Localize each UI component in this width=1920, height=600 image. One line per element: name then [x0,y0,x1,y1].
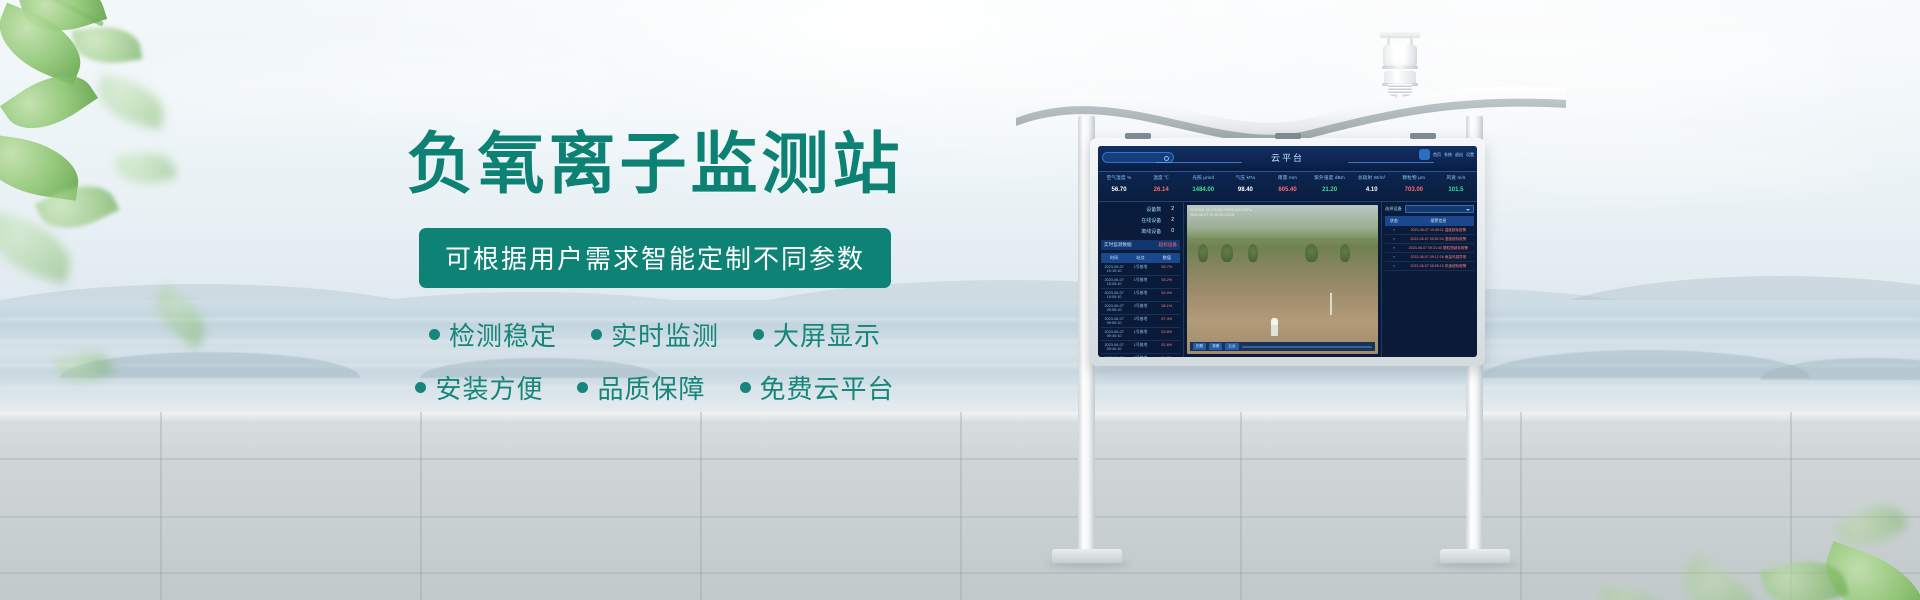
feature-item: 检测稳定 [429,316,557,353]
table-cell: 56.7% [1154,263,1180,275]
metric-label: 颗粒物 μm [1393,175,1435,181]
bullet-dot-icon [429,329,440,340]
section-header: 实时监测数据 超标设备 [1101,240,1180,250]
left-panel: 设备数2在线设备2离线设备0 实时监测数据 超标设备 时间站点数值 2023-0… [1098,202,1184,357]
monitoring-station-kiosk: 云平台 首页 系统 退出 设置 空气湿度 %56.70温度 ℃26.14光照 μ… [1010,20,1610,600]
table-cell: 2023-06-07 09:45:10 [1101,328,1127,340]
device-stats: 设备数2在线设备2离线设备0 [1101,206,1180,235]
metric-value: 1484.00 [1182,187,1224,193]
table-cell: 2023-06-07 09:50:10 [1101,315,1127,327]
header-badge[interactable]: 退出 [1455,152,1463,158]
metric-value: 26.14 [1140,187,1182,193]
table-col-header: 站点 [1127,253,1153,263]
metric-value: 703.00 [1393,187,1435,193]
header-badge[interactable]: 首页 [1433,152,1441,158]
table-cell: 2023-06-07 10:00:10 [1101,289,1127,301]
status-badge: 超标设备 [1159,242,1177,248]
sensor-pole [1330,293,1332,315]
realtime-table: 时间站点数值 2023-06-07 10:10:101号基地56.7%2023-… [1101,253,1180,357]
stat-line: 离线设备0 [1101,228,1180,235]
feature-label: 安装方便 [435,369,543,406]
metric-label: 雨量 mm [1266,175,1308,181]
table-cell: 1号基地 [1127,328,1153,340]
table-cell: 53.8% [1154,328,1180,340]
banner-copy: 负氧离子监测站 可根据用户需求智能定制不同参数 检测稳定 实时监测 大屏显示 [390,130,920,422]
feature-row: 检测稳定 实时监测 大屏显示 [390,316,920,353]
device-select[interactable] [1405,205,1474,213]
table-cell: 2023-06-07 09:35:10 [1101,354,1127,357]
metric-cell: 气压 kPa98.40 [1224,172,1266,201]
table-cell: 2号基地 [1127,354,1153,357]
metric-strip: 空气湿度 %56.70温度 ℃26.14光照 μmol1484.00气压 kPa… [1098,172,1477,202]
subtitle-pill: 可根据用户需求智能定制不同参数 [419,228,891,288]
table-row[interactable]: 2023-06-07 10:05:101号基地55.2% [1101,276,1180,289]
bullet-dot-icon [415,382,426,393]
video-controls[interactable]: 拍照 录像 云台 [1190,342,1375,351]
feature-list: 检测稳定 实时监测 大屏显示 安装方便 品质保障 [390,316,920,406]
mount-bracket [1125,133,1151,139]
table-cell: 1号基地 [1127,289,1153,301]
table-cell: 58.1% [1154,302,1180,314]
metric-label: 温度 ℃ [1140,175,1182,181]
post-base-left [1052,549,1122,563]
table-cell: 1号基地 [1127,276,1153,288]
cloud-band [120,60,640,120]
alarm-message: 2023-06-07 09:52:04 湿度超标报警 [1403,235,1474,243]
alarm-message: 2023-06-07 09:31:40 颗粒物超标报警 [1403,244,1474,252]
metric-cell: 雨量 mm605.40 [1266,172,1308,201]
stat-line: 在线设备2 [1101,217,1180,224]
bullet-dot-icon [577,382,588,393]
stat-line: 设备数2 [1101,206,1180,213]
feature-item: 免费云平台 [740,369,895,406]
video-panel: JZYK001 25.2℃/56.7%RH/1013.2hPa 2023-06-… [1184,202,1381,357]
mount-bracket [1275,133,1301,139]
table-cell: 52.6% [1154,341,1180,353]
metric-cell: 总辐射 W/m²4.10 [1351,172,1393,201]
metric-label: 紫外强度 dBm [1309,175,1351,181]
table-row[interactable]: 2023-06-07 09:40:101号基地52.6% [1101,341,1180,354]
metric-cell: 紫外强度 dBm21.20 [1309,172,1351,201]
person-figure [1271,318,1278,336]
table-row[interactable]: 2023-06-07 09:45:101号基地53.8% [1101,328,1180,341]
dashboard-screen: 云平台 首页 系统 退出 设置 空气湿度 %56.70温度 ℃26.14光照 μ… [1098,146,1477,357]
metric-label: 光照 μmol [1182,175,1224,181]
alarm-row[interactable]: ●2023-06-07 09:52:04 湿度超标报警 [1385,235,1474,244]
table-body: 2023-06-07 10:10:101号基地56.7%2023-06-07 1… [1101,263,1180,357]
metric-label: 总辐射 W/m² [1351,175,1393,181]
alarm-message: 2023-06-07 09:12:26 雨量传感异常 [1403,253,1474,261]
table-cell: 2023-06-07 10:05:10 [1101,276,1127,288]
feature-item: 大屏显示 [753,316,881,353]
table-cell: 2023-06-07 10:10:10 [1101,263,1127,275]
metric-cell: 温度 ℃26.14 [1140,172,1182,201]
table-cell: 59.3% [1154,354,1180,357]
metric-value: 605.40 [1266,187,1308,193]
table-header: 时间站点数值 [1101,253,1180,263]
header-badge[interactable]: 设置 [1466,152,1474,158]
table-col-header: 时间 [1101,253,1127,263]
feature-item: 品质保障 [577,369,705,406]
metric-value: 98.40 [1224,187,1266,193]
video-progress-bar[interactable] [1242,346,1372,348]
header-deco-line [1348,162,1434,163]
table-row[interactable]: 2023-06-07 09:55:102号基地58.1% [1101,302,1180,315]
table-col-header: 数值 [1154,253,1180,263]
feature-label: 大屏显示 [773,316,881,353]
user-menu[interactable]: 首页 系统 退出 设置 [1419,149,1474,160]
right-panel: 选择设备 状态 报警信息 ●2023-06-07 10:08:11 温度超标报警… [1381,202,1477,357]
osd-line: 2023-06-07 10:10:10 CH-01 [1190,213,1252,218]
feature-label: 实时监测 [611,316,719,353]
bullet-dot-icon [753,329,764,340]
metric-cell: 风速 m/s101.5 [1435,172,1477,201]
table-cell: 2023-06-07 09:55:10 [1101,302,1127,314]
alarm-row[interactable]: ●2023-06-07 09:31:40 颗粒物超标报警 [1385,244,1474,253]
alarm-table-header: 状态 报警信息 [1385,216,1474,226]
table-row[interactable]: 2023-06-07 10:00:101号基地54.9% [1101,289,1180,302]
alarm-status-dot: ● [1385,226,1403,234]
table-cell: 57.4% [1154,315,1180,327]
display-bezel: 云平台 首页 系统 退出 设置 空气湿度 %56.70温度 ℃26.14光照 μ… [1090,138,1485,366]
alarm-status-dot: ● [1385,244,1403,252]
metric-value: 4.10 [1351,187,1393,193]
table-cell: 2023-06-07 09:40:10 [1101,341,1127,353]
alarm-row[interactable]: ●2023-06-07 08:55:19 风速超标报警 [1385,262,1474,271]
video-button[interactable]: 拍照 [1193,343,1206,350]
device-filter[interactable]: 选择设备 [1385,205,1474,213]
table-cell: 1号基地 [1127,263,1153,275]
feature-row: 安装方便 品质保障 免费云平台 [390,369,920,406]
table-cell: 54.9% [1154,289,1180,301]
feature-label: 免费云平台 [760,369,895,406]
table-cell: 2号基地 [1127,302,1153,314]
metric-label: 空气湿度 % [1098,175,1140,181]
video-osd: JZYK001 25.2℃/56.7%RH/1013.2hPa 2023-06-… [1190,208,1252,219]
alarm-status-dot: ● [1385,235,1403,243]
feature-item: 安装方便 [415,369,543,406]
alarm-row[interactable]: ●2023-06-07 09:12:26 雨量传感异常 [1385,253,1474,262]
post-base-right [1440,549,1510,563]
metric-label: 风速 m/s [1435,175,1477,181]
dashboard-body: 设备数2在线设备2离线设备0 实时监测数据 超标设备 时间站点数值 2023-0… [1098,202,1477,357]
feature-label: 品质保障 [597,369,705,406]
avatar [1419,149,1430,160]
header-badge[interactable]: 系统 [1444,152,1452,158]
table-row[interactable]: 2023-06-07 09:35:102号基地59.3% [1101,354,1180,357]
metric-cell: 光照 μmol1484.00 [1182,172,1224,201]
metric-value: 101.5 [1435,187,1477,193]
video-button[interactable]: 录像 [1209,343,1222,350]
bullet-dot-icon [740,382,751,393]
alarm-row[interactable]: ●2023-06-07 10:08:11 温度超标报警 [1385,226,1474,235]
alarm-status-dot: ● [1385,253,1403,261]
alarm-status-dot: ● [1385,262,1403,270]
pavement [0,412,1920,600]
table-row[interactable]: 2023-06-07 10:10:101号基地56.7% [1101,263,1180,276]
alarm-message: 2023-06-07 08:55:19 风速超标报警 [1403,262,1474,270]
metric-cell: 空气湿度 %56.70 [1098,172,1140,201]
page-title: 负氧离子监测站 [390,130,920,200]
dashboard-header: 云平台 首页 系统 退出 设置 [1098,146,1477,172]
alarm-col: 状态 [1385,216,1403,226]
alarm-table-body: ●2023-06-07 10:08:11 温度超标报警●2023-06-07 0… [1385,226,1474,271]
promo-banner: 负氧离子监测站 可根据用户需求智能定制不同参数 检测稳定 实时监测 大屏显示 [0,0,1920,600]
alarm-message: 2023-06-07 10:08:11 温度超标报警 [1403,226,1474,234]
feature-label: 检测稳定 [449,316,557,353]
alarm-col: 报警信息 [1403,216,1474,226]
table-cell: 1号基地 [1127,341,1153,353]
section-title: 实时监测数据 [1104,242,1132,248]
mount-bracket [1410,133,1436,139]
metric-value: 21.20 [1309,187,1351,193]
video-button[interactable]: 云台 [1225,343,1238,350]
table-cell: 55.2% [1154,276,1180,288]
bullet-dot-icon [591,329,602,340]
table-cell: 2号基地 [1127,315,1153,327]
feature-item: 实时监测 [591,316,719,353]
metric-value: 56.70 [1098,187,1140,193]
metric-cell: 颗粒物 μm703.00 [1393,172,1435,201]
filter-label: 选择设备 [1385,206,1402,212]
table-row[interactable]: 2023-06-07 09:50:102号基地57.4% [1101,315,1180,328]
camera-feed[interactable]: JZYK001 25.2℃/56.7%RH/1013.2hPa 2023-06-… [1187,205,1378,354]
metric-label: 气压 kPa [1224,175,1266,181]
